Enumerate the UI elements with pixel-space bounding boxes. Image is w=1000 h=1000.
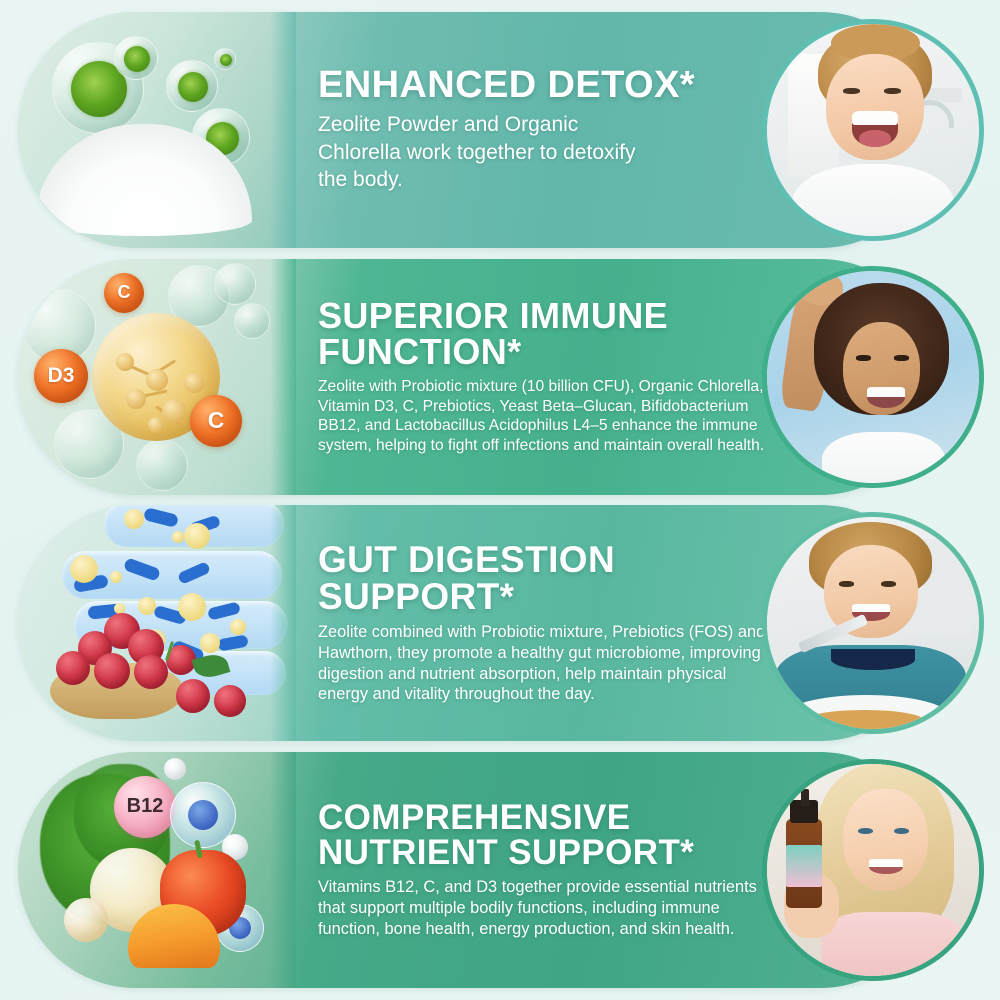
panel-body-text: Zeolite Powder and Organic Chlorella wor… xyxy=(318,111,658,194)
vitamin-c-label-top: C xyxy=(104,273,144,313)
vitamin-c-label-bottom: C xyxy=(190,395,242,447)
benefit-panel-comprehensive-nutrient-support: B12 COMPREHENSIVE NUTRIENT SUPPORT* xyxy=(18,752,990,988)
infographic-board: ENHANCED DETOX* Zeolite Powder and Organ… xyxy=(0,0,1000,1000)
panel-text-block: COMPREHENSIVE NUTRIENT SUPPORT* Vitamins… xyxy=(318,752,768,988)
benefit-panel-superior-immune-function: C D3 C SUPERIOR IMMUNE FUNCTION* Zeolite… xyxy=(18,259,990,495)
vitamin-oil-droplet-molecules-illustration: C D3 C xyxy=(18,259,296,495)
boy-eating-photo-ring xyxy=(762,512,984,734)
intestine-probiotics-hawthorn-illustration xyxy=(18,505,296,741)
panel-headline: COMPREHENSIVE NUTRIENT SUPPORT* xyxy=(318,800,768,870)
oil-droplet xyxy=(64,898,108,942)
vitamin-label-text: C xyxy=(118,282,131,303)
bubble-icon xyxy=(234,303,270,339)
zeolite-powder-chlorella-bubbles-illustration xyxy=(18,12,296,248)
panel-text-block: ENHANCED DETOX* Zeolite Powder and Organ… xyxy=(318,12,768,248)
prebiotic-dot xyxy=(200,633,220,653)
laughing-boy-photo xyxy=(767,24,979,236)
bubble-icon xyxy=(214,263,256,305)
panel-headline: SUPERIOR IMMUNE FUNCTION* xyxy=(318,298,768,370)
panel-headline: GUT DIGESTION SUPPORT* xyxy=(318,541,768,615)
panel-text-block: SUPERIOR IMMUNE FUNCTION* Zeolite with P… xyxy=(318,259,768,495)
bubble-icon xyxy=(214,48,236,70)
vitamin-label-text: D3 xyxy=(48,364,75,388)
benefit-panel-enhanced-detox: ENHANCED DETOX* Zeolite Powder and Organ… xyxy=(18,12,990,248)
panel-body-text: Zeolite combined with Probiotic mixture,… xyxy=(318,622,768,705)
vitamin-b12-label: B12 xyxy=(114,776,176,838)
panel-headline: ENHANCED DETOX* xyxy=(318,66,768,104)
boy-eating-photo xyxy=(767,517,979,729)
white-sphere xyxy=(164,758,186,780)
girl-holding-dropper-bottle-photo-ring xyxy=(762,759,984,981)
panel-body-text: Zeolite with Probiotic mixture (10 billi… xyxy=(318,377,768,456)
panel-body-text: Vitamins B12, C, and D3 together provide… xyxy=(318,877,768,939)
vitamin-label-text: B12 xyxy=(127,795,164,818)
bubble-icon xyxy=(136,439,188,491)
vitamin-d3-label: D3 xyxy=(34,349,88,403)
bubble-icon xyxy=(114,36,158,80)
hawthorn-berry xyxy=(176,679,210,713)
vitamin-label-text: C xyxy=(208,407,225,434)
girl-flexing-arm-photo-ring xyxy=(762,266,984,488)
bubble-icon xyxy=(166,60,218,112)
girl-flexing-arm-photo xyxy=(767,271,979,483)
hawthorn-berry xyxy=(214,685,246,717)
laughing-boy-photo-ring xyxy=(762,19,984,241)
greens-b12-fruits-cells-illustration: B12 xyxy=(18,752,296,988)
panel-text-block: GUT DIGESTION SUPPORT* Zeolite combined … xyxy=(318,505,768,741)
benefit-panel-gut-digestion-support: GUT DIGESTION SUPPORT* Zeolite combined … xyxy=(18,505,990,741)
girl-holding-dropper-bottle-photo xyxy=(767,764,979,976)
